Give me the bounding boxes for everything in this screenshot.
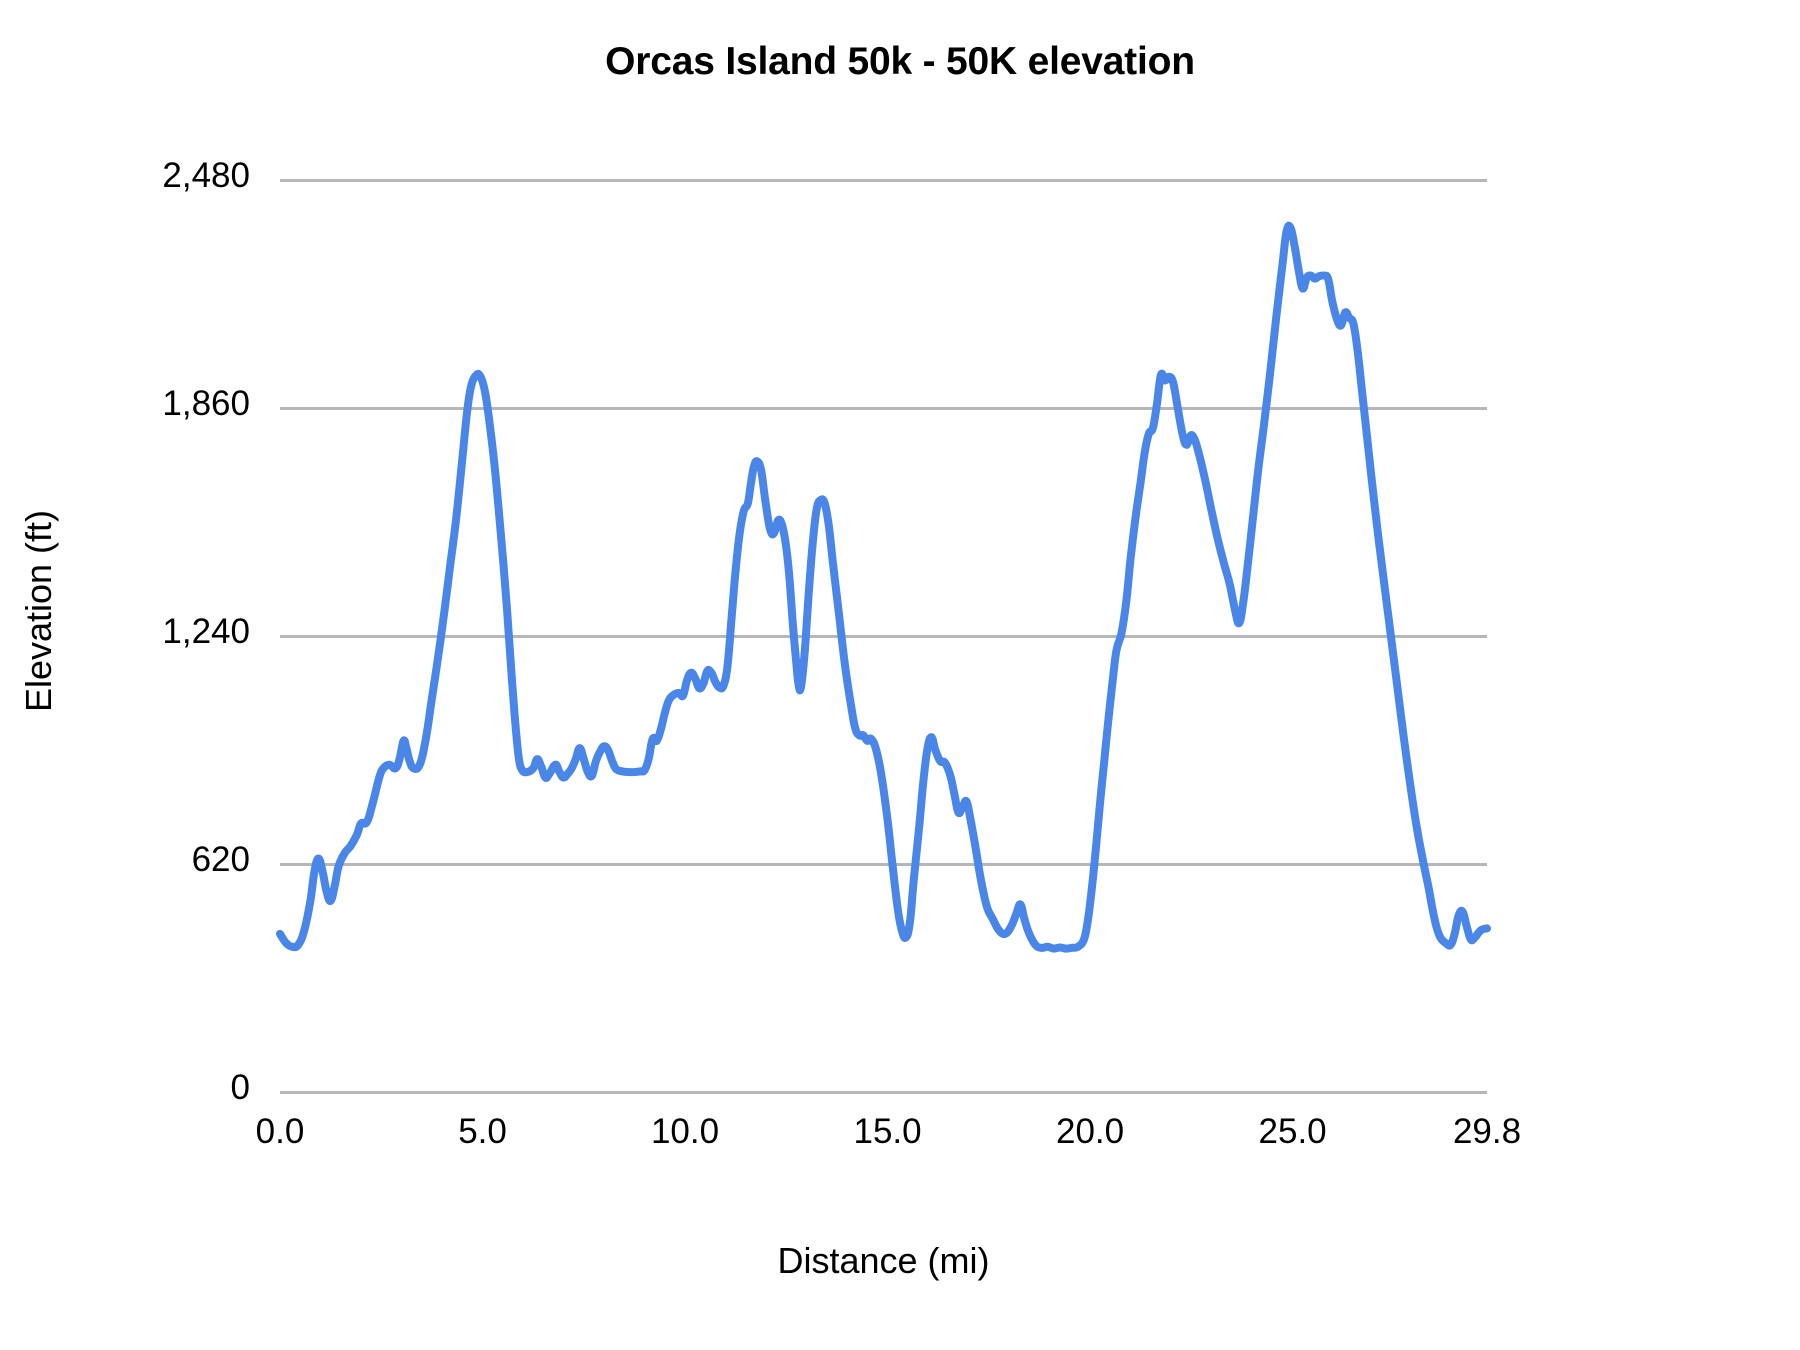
chart-page: Orcas Island 50k - 50K elevation 06201,2… <box>0 0 1800 1350</box>
x-axis-title: Distance (mi) <box>280 1240 1487 1282</box>
x-axis-tick-label: 25.0 <box>1259 1112 1327 1152</box>
page-title: Orcas Island 50k - 50K elevation <box>0 40 1800 84</box>
elevation-series-line <box>280 226 1487 949</box>
x-axis-tick-label: 5.0 <box>458 1112 507 1152</box>
y-axis-tick-label: 2,480 <box>8 156 250 196</box>
y-axis-tick-label: 620 <box>8 840 250 880</box>
x-axis-tick-label: 15.0 <box>853 1112 921 1152</box>
x-axis-tick-label: 0.0 <box>256 1112 305 1152</box>
y-axis-title: Elevation (ft) <box>18 461 60 761</box>
plot-area <box>280 180 1487 1092</box>
x-axis-tick-label: 20.0 <box>1056 1112 1124 1152</box>
y-axis-tick-label: 0 <box>8 1068 250 1108</box>
x-axis-tick-label: 29.8 <box>1453 1112 1521 1152</box>
y-axis-tick-label: 1,860 <box>8 384 250 424</box>
elevation-line-chart <box>280 180 1487 1092</box>
x-axis-tick-label: 10.0 <box>651 1112 719 1152</box>
